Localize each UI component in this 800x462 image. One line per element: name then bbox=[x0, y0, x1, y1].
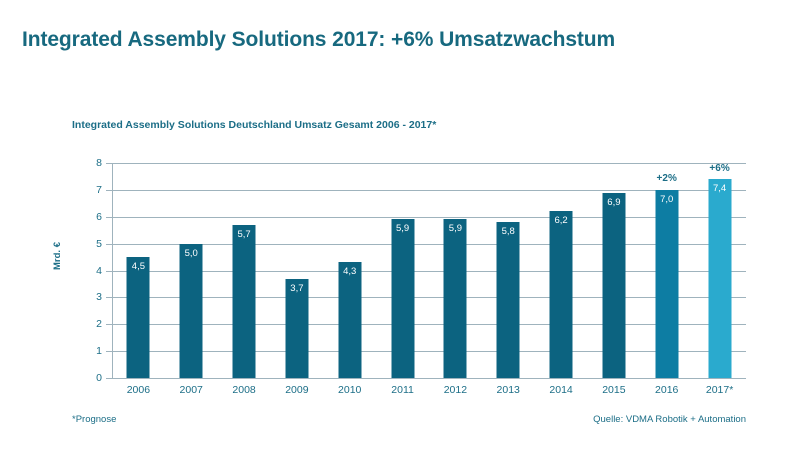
x-tick-label: 2014 bbox=[535, 384, 588, 396]
x-tick-label: 2007 bbox=[165, 384, 218, 396]
x-tick-label: 2008 bbox=[218, 384, 271, 396]
x-tick-label: 2012 bbox=[429, 384, 482, 396]
footnote-prognose: *Prognose bbox=[72, 414, 116, 425]
x-tick-label: 2016 bbox=[640, 384, 693, 396]
y-tick-label: 5 bbox=[62, 238, 102, 250]
chart-container: Integrated Assembly Solutions Deutschlan… bbox=[0, 0, 800, 462]
x-tick-label: 2011 bbox=[376, 384, 429, 396]
y-tick-label: 1 bbox=[62, 345, 102, 357]
x-tick-label: 2010 bbox=[323, 384, 376, 396]
y-tick-label: 2 bbox=[62, 318, 102, 330]
y-tick-label: 6 bbox=[62, 211, 102, 223]
x-tick-label: 2006 bbox=[112, 384, 165, 396]
y-tick-label: 7 bbox=[62, 184, 102, 196]
y-tick-label: 8 bbox=[62, 157, 102, 169]
y-tick-label: 0 bbox=[62, 372, 102, 384]
x-tick-label: 2013 bbox=[482, 384, 535, 396]
y-tick-label: 4 bbox=[62, 265, 102, 277]
y-tick-label: 3 bbox=[62, 291, 102, 303]
x-axis-tick-labels: 2006 2007 2008 2009 2010 2011 2012 2013 … bbox=[112, 0, 746, 462]
x-tick-label: 2017* bbox=[693, 384, 746, 396]
footnote-source: Quelle: VDMA Robotik + Automation bbox=[593, 414, 746, 425]
y-axis-tick-labels: 8 7 6 5 4 3 2 1 0 bbox=[58, 0, 102, 462]
x-tick-label: 2009 bbox=[271, 384, 324, 396]
x-tick-label: 2015 bbox=[588, 384, 641, 396]
